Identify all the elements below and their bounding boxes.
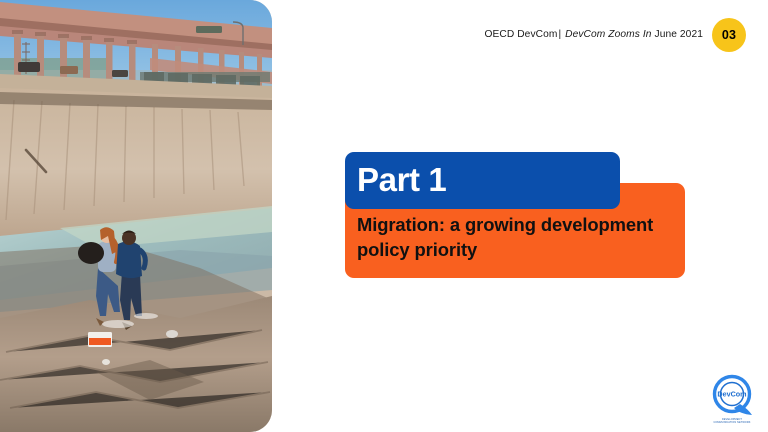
part-label: Part 1 — [357, 160, 446, 201]
slide-header: OECD DevCom| DevCom Zooms In June 2021 0… — [484, 18, 746, 52]
header-org: OECD DevCom — [484, 29, 557, 40]
logo-caption-line-2: COMMUNICATION NETWORK — [704, 421, 760, 424]
slide-photo — [0, 0, 272, 432]
photo-illustration — [0, 0, 272, 432]
devcom-logo-caption: DEVELOPMENT COMMUNICATION NETWORK — [704, 418, 760, 425]
header-series: DevCom Zooms In — [565, 29, 651, 40]
subtitle-text: Migration: a growing development policy … — [357, 213, 679, 262]
slide-canvas: OECD DevCom| DevCom Zooms In June 2021 0… — [0, 0, 768, 432]
svg-text:DevCom: DevCom — [717, 390, 746, 399]
devcom-logo-mark: DevCom — [704, 374, 760, 420]
devcom-logo: DevCom DEVELOPMENT COMMUNICATION NETWORK — [704, 374, 760, 426]
header-breadcrumb: OECD DevCom| DevCom Zooms In June 2021 — [484, 30, 703, 40]
header-date: June 2021 — [655, 29, 704, 40]
header-separator: | — [557, 29, 562, 40]
page-number-badge: 03 — [712, 18, 746, 52]
